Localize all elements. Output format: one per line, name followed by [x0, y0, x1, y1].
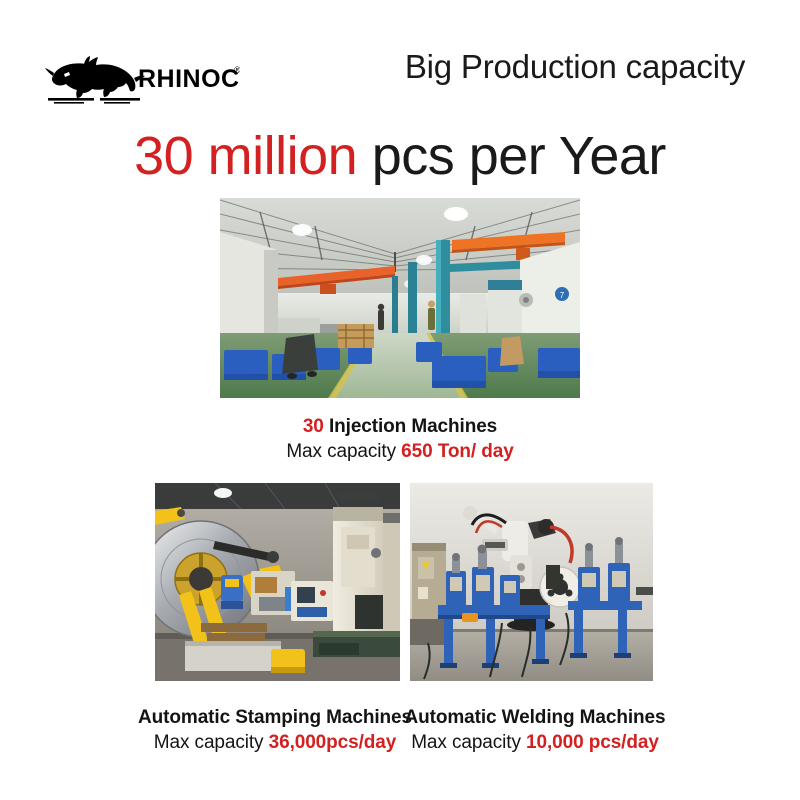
caption-injection: 30 Injection Machines Max capacity 650 T… — [200, 415, 600, 465]
caption-injection-machine-label: Injection Machines — [324, 416, 497, 437]
caption-injection-capacity-value: 650 Ton/ day — [401, 441, 514, 462]
page-header: RHINOCEROS ® Big Production capacity — [0, 48, 800, 108]
svg-text:®: ® — [234, 65, 240, 75]
caption-welding-line2: Max capacity 10,000 pcs/day — [390, 730, 680, 756]
caption-stamping: Automatic Stamping Machines Max capacity… — [130, 706, 420, 756]
headline: 30 million pcs per Year — [0, 124, 800, 188]
headline-highlight: 30 million — [134, 126, 357, 186]
caption-injection-line1: 30 Injection Machines — [200, 415, 600, 439]
caption-welding: Automatic Welding Machines Max capacity … — [390, 706, 680, 756]
factory-injection-hall-photo: 7 — [220, 198, 580, 398]
caption-injection-capacity-prefix: Max capacity — [286, 441, 401, 462]
caption-welding-capacity-prefix: Max capacity — [411, 732, 526, 753]
brand-logo: RHINOCEROS ® — [40, 52, 240, 104]
caption-injection-count: 30 — [303, 416, 324, 437]
caption-welding-capacity-value: 10,000 pcs/day — [526, 732, 659, 753]
caption-stamping-line1: Automatic Stamping Machines — [130, 706, 420, 730]
rhinoceros-logo-icon: RHINOCEROS ® — [40, 52, 240, 104]
caption-stamping-capacity-value: 36,000pcs/day — [269, 732, 397, 753]
caption-welding-line1: Automatic Welding Machines — [390, 706, 680, 730]
caption-stamping-line2: Max capacity 36,000pcs/day — [130, 730, 420, 756]
automatic-stamping-machine-photo — [155, 483, 400, 681]
headline-rest: pcs per Year — [357, 126, 666, 186]
caption-stamping-capacity-prefix: Max capacity — [154, 732, 269, 753]
page-title: Big Production capacity — [380, 48, 770, 86]
svg-text:RHINOCEROS: RHINOCEROS — [138, 65, 240, 93]
caption-injection-line2: Max capacity 650 Ton/ day — [200, 439, 600, 465]
svg-text:7: 7 — [560, 291, 565, 300]
automatic-welding-machine-photo — [410, 483, 653, 681]
